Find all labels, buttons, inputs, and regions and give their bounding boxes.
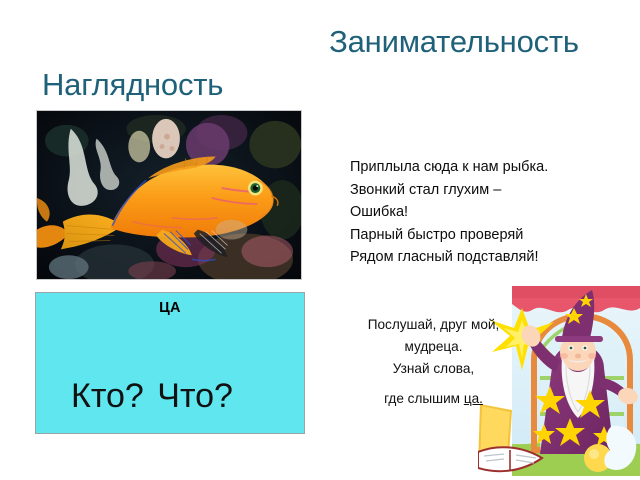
wizard-caption-line: Узнай слова, bbox=[393, 361, 474, 376]
wizard-caption: Послушай, друг мой, мудреца. Узнай слова… bbox=[352, 314, 515, 410]
poem-line: Рядом гласный подставляй! bbox=[350, 246, 636, 269]
poem-line: Ошибка! bbox=[350, 201, 636, 224]
question-words: Кто? Что? bbox=[37, 373, 267, 420]
slide: Наглядность Занимательность bbox=[0, 0, 640, 480]
fish-photo-icon bbox=[37, 111, 301, 279]
wizard-caption-last-line: где слышим ца. bbox=[352, 388, 515, 410]
poem-text: Приплыла сюда к нам рыбка. Звонкий стал … bbox=[350, 156, 636, 269]
fish-photo bbox=[36, 110, 302, 280]
wizard-caption-prefix: где слышим bbox=[384, 391, 464, 406]
tsa-hyperlink[interactable]: ца. bbox=[464, 391, 483, 406]
heading-naglyadnost: Наглядность bbox=[42, 66, 302, 104]
poem-line: Звонкий стал глухим – bbox=[350, 179, 636, 202]
cyan-box-label: ЦА bbox=[35, 300, 305, 316]
wizard-caption-line: Послушай, друг мой, bbox=[368, 317, 500, 332]
poem-line: Приплыла сюда к нам рыбка. bbox=[350, 156, 636, 179]
heading-zanimatelnost: Занимательность bbox=[268, 22, 640, 62]
poem-line: Парный быстро проверяй bbox=[350, 224, 636, 247]
wizard-caption-line: мудреца. bbox=[404, 339, 462, 354]
